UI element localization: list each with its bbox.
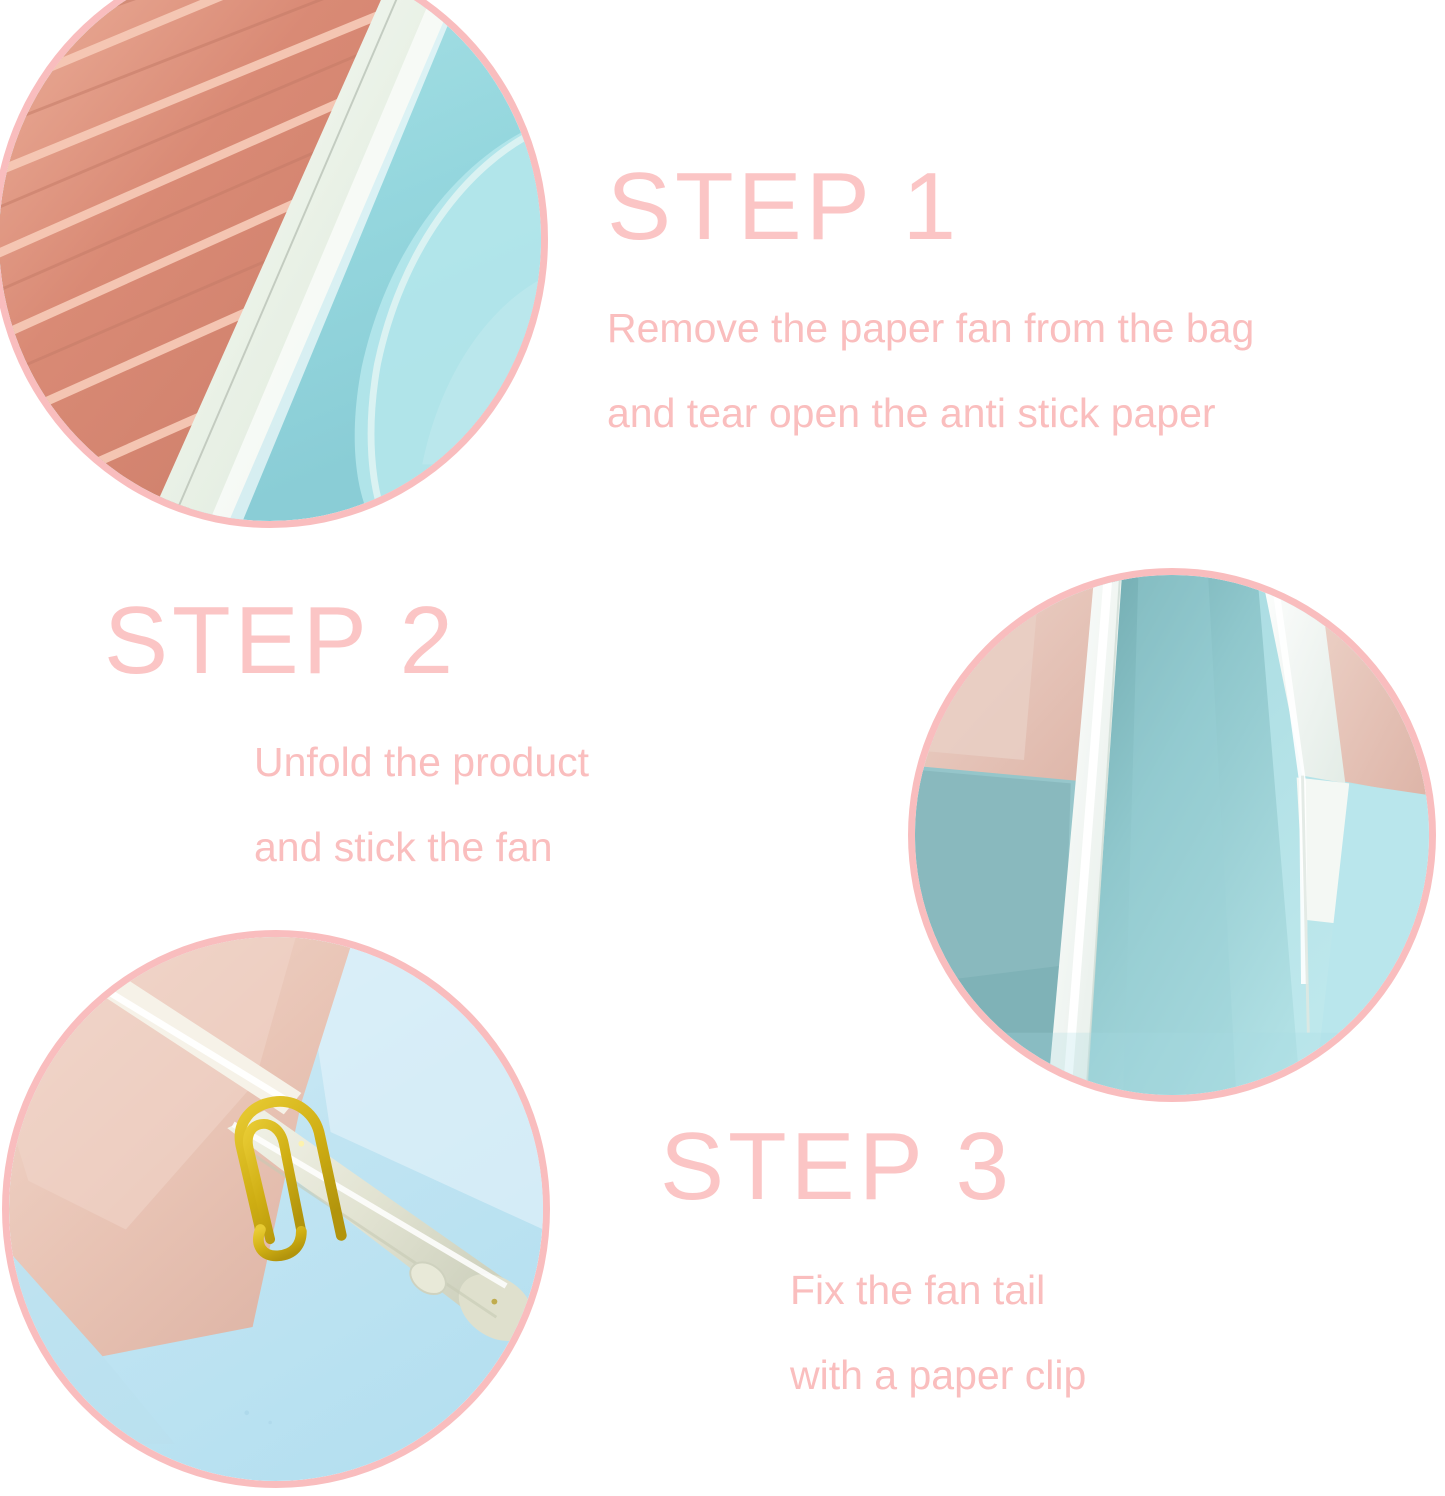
step-2-title: STEP 2 [104,592,589,690]
photo-unfolded-fan-standing [908,568,1436,1102]
step-1-line-2: and tear open the anti stick paper [607,393,1254,434]
photo-fan-tail-with-paper-clip [2,930,550,1488]
step-1-text-block: STEP 1 Remove the paper fan from the bag… [607,158,1254,434]
photo-fan-tail-with-paper-clip-art [9,937,543,1481]
step-2-line-1: Unfold the product [254,742,589,783]
photo-folded-fan-in-bag-inner [0,0,541,521]
photo-folded-fan-in-bag [0,0,548,528]
step-1-title: STEP 1 [607,158,1254,256]
photo-fan-tail-with-paper-clip-inner [9,937,543,1481]
photo-unfolded-fan-standing-art [915,575,1429,1095]
step-2-line-2: and stick the fan [254,827,589,868]
photo-folded-fan-in-bag-art [0,0,541,521]
step-2-description: Unfold the product and stick the fan [254,742,589,868]
step-1-description: Remove the paper fan from the bag and te… [607,308,1254,434]
instruction-poster: STEP 1 Remove the paper fan from the bag… [0,0,1445,1496]
step-3-line-2: with a paper clip [790,1355,1086,1396]
step-3-text-block: STEP 3 Fix the fan tail with a paper cli… [660,1118,1086,1396]
step-1-line-1: Remove the paper fan from the bag [607,308,1254,349]
step-3-title: STEP 3 [660,1118,1086,1216]
step-3-description: Fix the fan tail with a paper clip [790,1270,1086,1396]
photo-unfolded-fan-standing-inner [915,575,1429,1095]
step-2-text-block: STEP 2 Unfold the product and stick the … [104,592,589,868]
step-3-line-1: Fix the fan tail [790,1270,1086,1311]
